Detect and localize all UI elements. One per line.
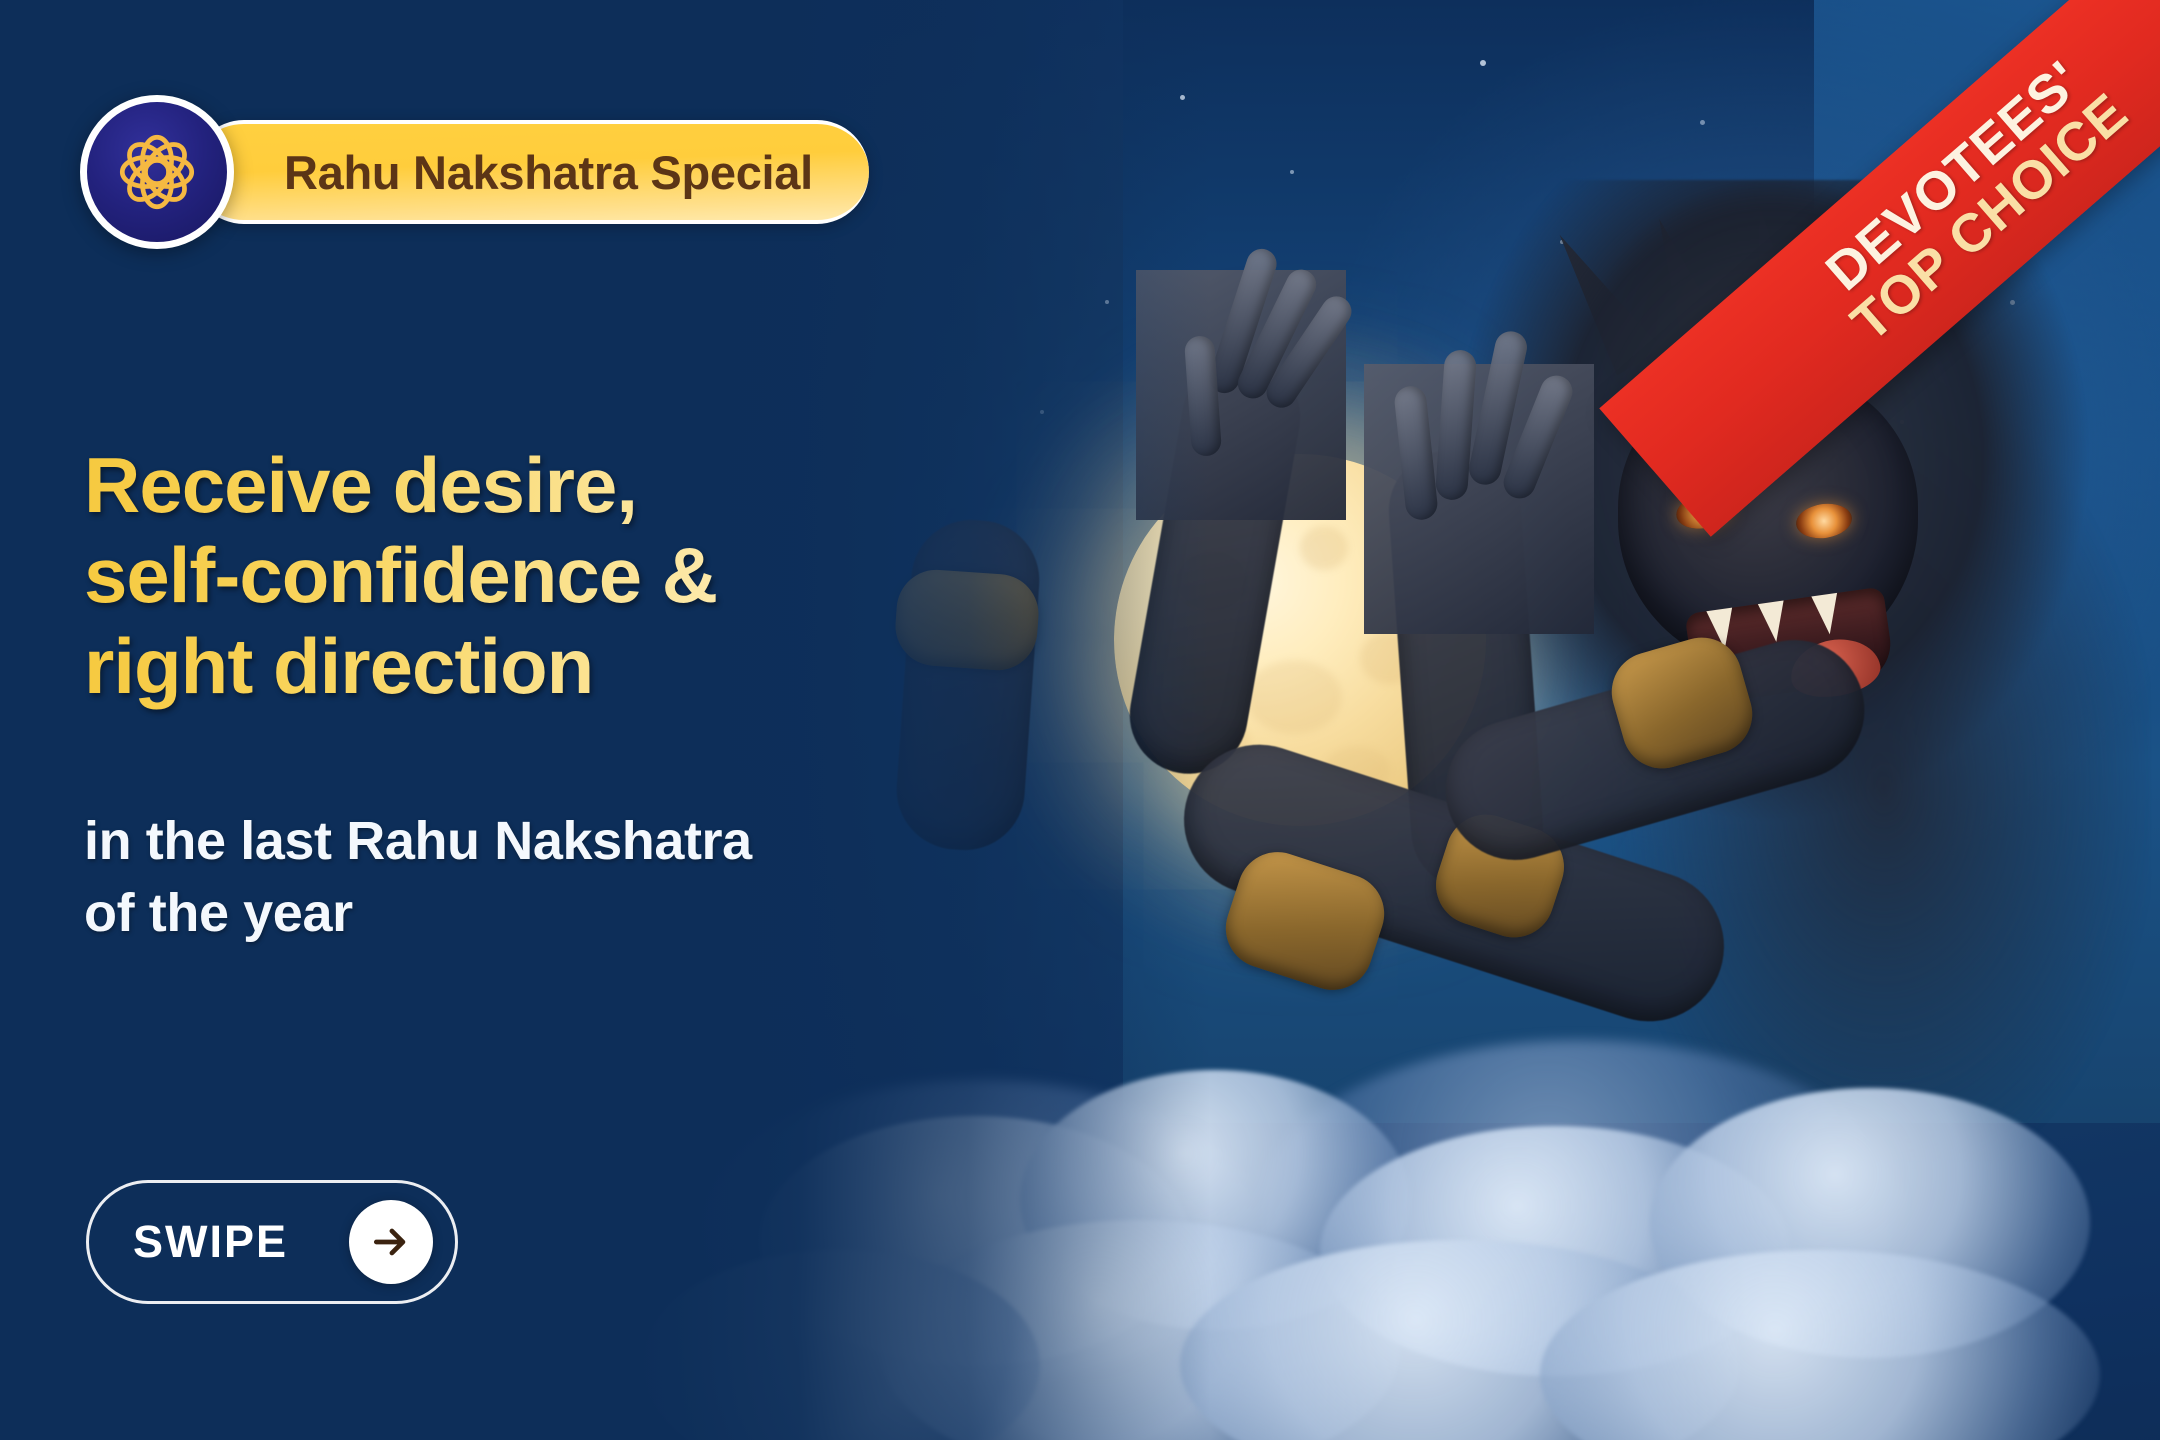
swipe-label: SWIPE [133,1216,288,1268]
headline-line-1: Receive desire, [84,440,984,530]
subheadline-line-1: in the last Rahu Nakshatra [84,806,964,878]
swipe-button[interactable]: SWIPE [86,1180,458,1304]
arrow-right-icon[interactable] [349,1200,433,1284]
subheadline-line-2: of the year [84,878,964,950]
headline: Receive desire, self-confidence & right … [84,440,984,711]
deity-hand-mid [1364,364,1594,634]
headline-line-3: right direction [84,621,984,711]
subheadline: in the last Rahu Nakshatra of the year [84,806,964,950]
promo-banner: Rahu Nakshatra Special Receive desire, s… [0,0,2160,1440]
badge-label: Rahu Nakshatra Special [284,145,813,200]
lotus-mandala-icon [80,95,234,249]
brand-badge: Rahu Nakshatra Special [80,108,869,236]
badge-pill: Rahu Nakshatra Special [192,120,869,224]
headline-line-2: self-confidence & [84,530,984,620]
